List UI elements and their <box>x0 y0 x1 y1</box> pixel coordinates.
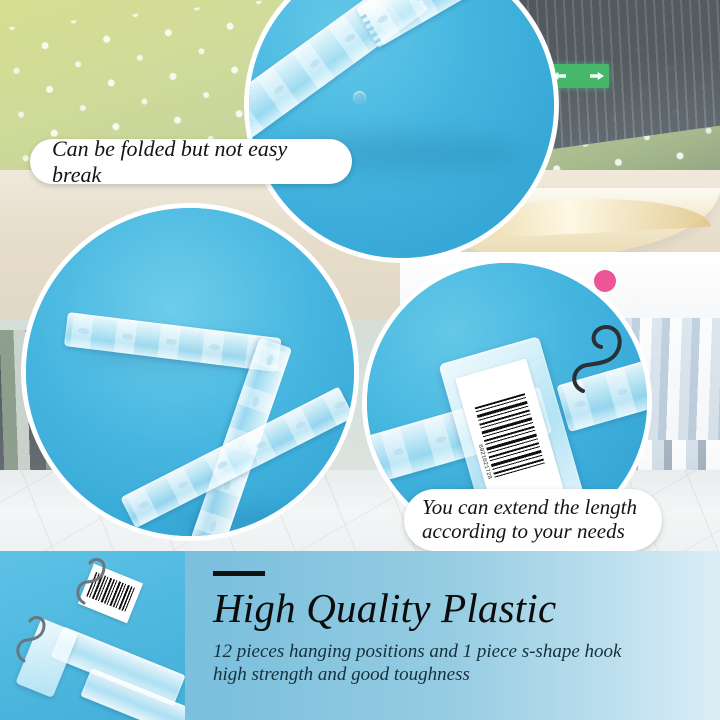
banner-subtext-line1: 12 pieces hanging positions and 1 piece … <box>213 640 713 663</box>
s-hook-icon <box>563 317 633 399</box>
banner-product-photo <box>0 551 185 720</box>
s-hook-icon <box>10 613 52 665</box>
caption-extend-length: You can extend the length according to y… <box>404 489 662 551</box>
product-infographic: 6921021728 Can be folded but not easy br… <box>0 0 720 720</box>
hanging-hole <box>353 91 366 104</box>
banner-text-block: High Quality Plastic 12 pieces hanging p… <box>213 551 720 720</box>
caption-extend-line2: according to your needs <box>422 520 644 544</box>
bottom-banner: High Quality Plastic 12 pieces hanging p… <box>0 551 720 720</box>
banner-subtext: 12 pieces hanging positions and 1 piece … <box>213 640 713 686</box>
s-hook-icon <box>70 555 112 607</box>
title-rule <box>213 571 265 576</box>
caption-folded-text: Can be folded but not easy break <box>52 136 330 186</box>
photo-collage: 6921021728 Can be folded but not easy br… <box>0 0 720 551</box>
caption-folded: Can be folded but not easy break <box>30 139 352 184</box>
product-photo-circle-left <box>21 203 359 541</box>
caption-extend-line1: You can extend the length <box>422 496 644 520</box>
banner-headline: High Quality Plastic <box>213 584 556 632</box>
banner-subtext-line2: high strength and good toughness <box>213 663 713 686</box>
